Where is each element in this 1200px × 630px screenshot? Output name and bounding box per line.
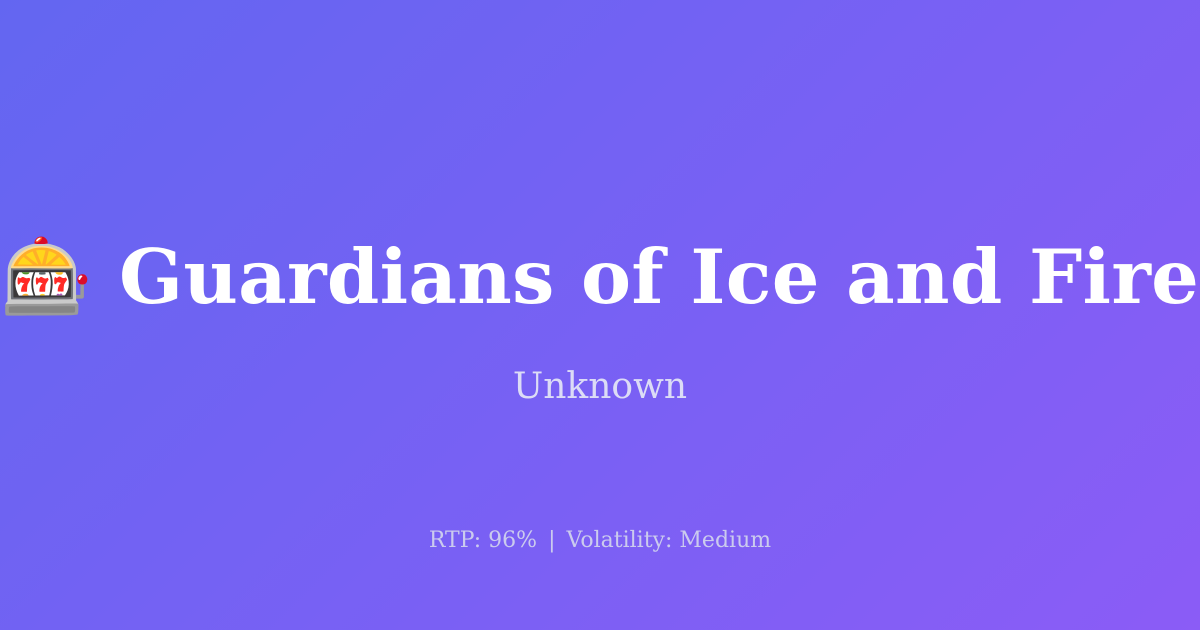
volatility-value: Medium — [679, 528, 771, 553]
title-row: 🎰 Guardians of Ice and Fire — [0, 0, 1200, 592]
og-card: 🎰 Guardians of Ice and Fire Unknown RTP:… — [0, 0, 1200, 630]
rtp-label: RTP: — [429, 528, 481, 553]
rtp-value: 96% — [488, 528, 537, 553]
page-title: Guardians of Ice and Fire — [119, 238, 1199, 316]
volatility-label: Volatility: — [567, 528, 673, 553]
page-subtitle: Unknown — [0, 364, 1200, 409]
meta-separator: | — [544, 528, 559, 553]
footer-meta: RTP: 96% | Volatility: Medium — [0, 527, 1200, 556]
slot-machine-icon: 🎰 — [1, 240, 93, 314]
